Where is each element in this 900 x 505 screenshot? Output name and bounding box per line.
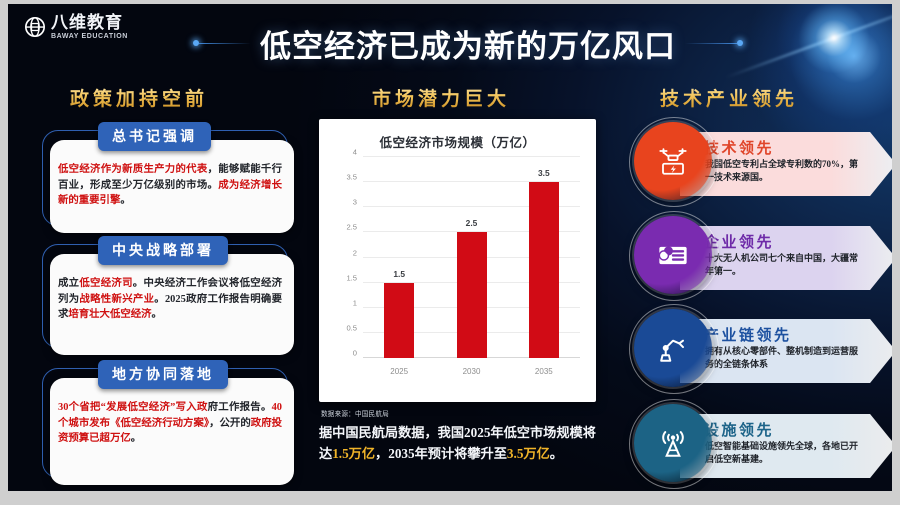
section-heading-technology: 技术产业领先 bbox=[660, 84, 798, 111]
card-text: 低空经济作为新质生产力的代表，能够赋能千行百业，形成至少万亿级别的市场。成为经济… bbox=[58, 162, 282, 209]
chart-gridline bbox=[363, 156, 580, 157]
icon-ring bbox=[629, 117, 719, 207]
advantage-item: 技术领先 我国低空专利占全球专利数的70%，第一技术来源国。 bbox=[634, 122, 892, 206]
chart-y-tick-label: 4 bbox=[353, 148, 357, 157]
chart-plot-area: 43.532.521.510.501.520252.520303.52035 bbox=[363, 157, 580, 358]
title-rule-left bbox=[199, 43, 251, 44]
chart-title: 低空经济市场规模（万亿） bbox=[319, 132, 596, 151]
chart-bar: 2.5 bbox=[457, 232, 487, 358]
chart-bar: 3.5 bbox=[529, 182, 559, 358]
chart-y-tick-label: 0.5 bbox=[346, 323, 357, 332]
brand-logo: 八维教育 BAWAY EDUCATION bbox=[24, 14, 128, 40]
title-dot-right bbox=[737, 40, 743, 46]
market-summary-text: 据中国民航局数据，我国2025年低空市场规模将达1.5万亿，2035年预计将攀升… bbox=[319, 422, 609, 464]
card-text: 成立低空经济司。中央经济工作会议将低空经济列为战略性新兴产业。2025政府工作报… bbox=[58, 276, 282, 323]
chart-y-tick-label: 0 bbox=[353, 349, 357, 358]
chart-y-tick-label: 3.5 bbox=[346, 173, 357, 182]
icon-ring bbox=[629, 399, 719, 489]
screenshot-frame: 八维教育 BAWAY EDUCATION 低空经济已成为新的万亿风口 政策加持空… bbox=[0, 0, 900, 505]
chart-x-tick-label: 2030 bbox=[463, 367, 481, 376]
chart-bar-value-label: 1.5 bbox=[393, 269, 405, 279]
icon-ring bbox=[629, 211, 719, 301]
chart-y-tick-label: 2.5 bbox=[346, 223, 357, 232]
chart-bar-value-label: 3.5 bbox=[538, 168, 550, 178]
broadcast-tower-icon bbox=[634, 404, 712, 482]
policy-card: 总书记强调 低空经济作为新质生产力的代表，能够赋能千行百业，形成至少万亿级别的市… bbox=[42, 122, 294, 226]
advantage-text: 我国低空专利占全球专利数的70%，第一技术来源国。 bbox=[705, 158, 863, 184]
drone-battery-icon bbox=[634, 122, 712, 200]
chart-y-tick-label: 2 bbox=[353, 248, 357, 257]
brand-name-cn: 八维教育 bbox=[51, 14, 128, 31]
chart-bar: 1.5 bbox=[384, 283, 414, 358]
card-tag: 地方协同落地 bbox=[98, 360, 228, 389]
id-card-icon bbox=[634, 216, 712, 294]
advantage-item: 产业链领先 拥有从核心零部件、整机制造到运营服务的全链条体系 bbox=[634, 309, 892, 393]
policy-card: 中央战略部署 成立低空经济司。中央经济工作会议将低空经济列为战略性新兴产业。20… bbox=[42, 236, 294, 348]
policy-card: 地方协同落地 30个省把“发展低空经济”写入政府工作报告。40个城市发布《低空经… bbox=[42, 360, 294, 478]
advantage-text: 十大无人机公司七个来自中国，大疆常年第一。 bbox=[705, 252, 863, 278]
advantage-text: 低空智能基础设施领先全球，各地已开启低空新基建。 bbox=[705, 440, 863, 466]
globe-icon bbox=[24, 16, 46, 38]
slide-canvas: 八维教育 BAWAY EDUCATION 低空经济已成为新的万亿风口 政策加持空… bbox=[8, 4, 892, 491]
chart-x-tick-label: 2025 bbox=[390, 367, 408, 376]
brand-name-en: BAWAY EDUCATION bbox=[51, 33, 128, 40]
advantage-item: 企业领先 十大无人机公司七个来自中国，大疆常年第一。 bbox=[634, 216, 892, 300]
chart-y-tick-label: 1.5 bbox=[346, 273, 357, 282]
chart-source-note: 数据来源：中国民航局 bbox=[321, 408, 389, 418]
card-tag: 总书记强调 bbox=[98, 122, 211, 151]
market-size-chart: 低空经济市场规模（万亿） 43.532.521.510.501.520252.5… bbox=[319, 119, 596, 402]
advantage-item: 设施领先 低空智能基础设施领先全球，各地已开启低空新基建。 bbox=[634, 404, 892, 488]
card-tag: 中央战略部署 bbox=[98, 236, 228, 265]
page-title: 低空经济已成为新的万亿风口 bbox=[168, 20, 768, 66]
section-heading-market: 市场潜力巨大 bbox=[372, 84, 510, 111]
section-heading-policy: 政策加持空前 bbox=[70, 84, 208, 111]
advantage-text: 拥有从核心零部件、整机制造到运营服务的全链条体系 bbox=[705, 345, 863, 371]
title-rule-right bbox=[685, 43, 737, 44]
chart-bar-value-label: 2.5 bbox=[466, 218, 478, 228]
robot-arm-icon bbox=[634, 309, 712, 387]
card-text: 30个省把“发展低空经济”写入政府工作报告。40个城市发布《低空经济行动方案》，… bbox=[58, 400, 282, 447]
chart-y-tick-label: 3 bbox=[353, 198, 357, 207]
chart-y-tick-label: 1 bbox=[353, 298, 357, 307]
icon-ring bbox=[629, 304, 719, 394]
chart-x-tick-label: 2035 bbox=[535, 367, 553, 376]
page-title-text: 低空经济已成为新的万亿风口 bbox=[251, 21, 685, 66]
